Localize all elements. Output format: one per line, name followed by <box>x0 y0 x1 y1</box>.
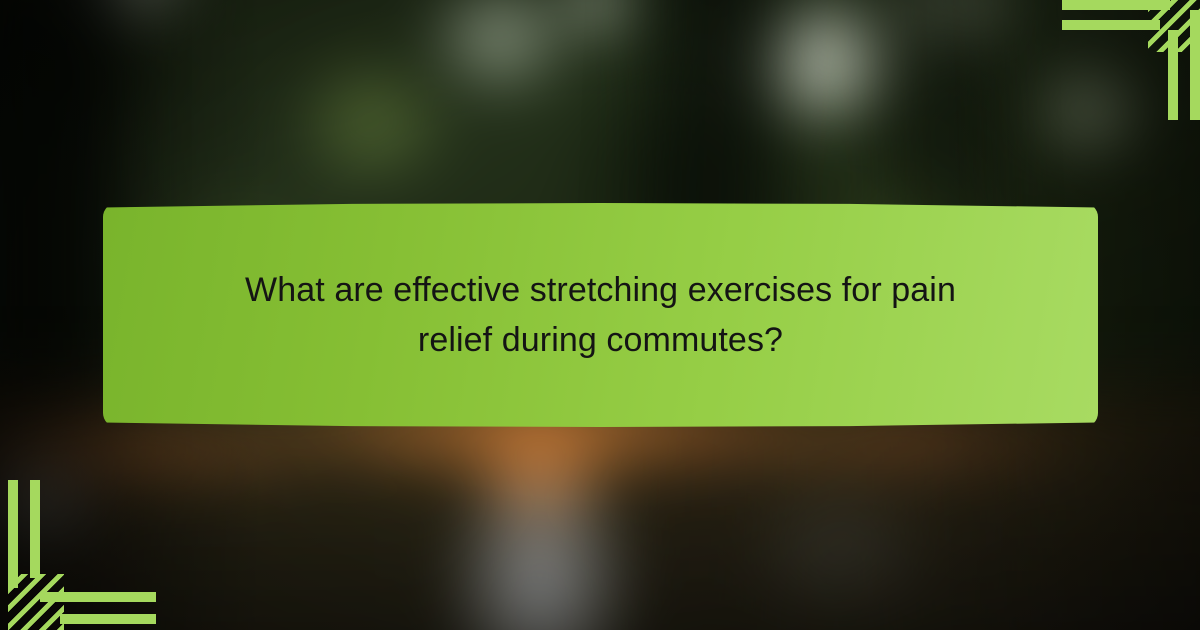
share-card: What are effective stretching exercises … <box>0 0 1200 630</box>
headline-banner: What are effective stretching exercises … <box>103 203 1098 427</box>
ornament-bar-horizontal-inner <box>1062 20 1160 30</box>
corner-ornament-top-right <box>1040 0 1200 120</box>
ornament-bar-horizontal-inner <box>60 614 156 624</box>
ornament-hatch-bottom-left <box>8 574 64 630</box>
corner-ornament-bottom-left <box>0 470 160 630</box>
ornament-bar-vertical-inner <box>30 480 40 578</box>
headline-text: What are effective stretching exercises … <box>221 265 981 366</box>
ornament-bar-horizontal-outer <box>40 592 156 602</box>
ornament-bar-vertical-outer <box>8 480 18 588</box>
ornament-bar-vertical-inner <box>1168 30 1178 120</box>
ornament-bar-vertical-outer <box>1190 10 1200 120</box>
